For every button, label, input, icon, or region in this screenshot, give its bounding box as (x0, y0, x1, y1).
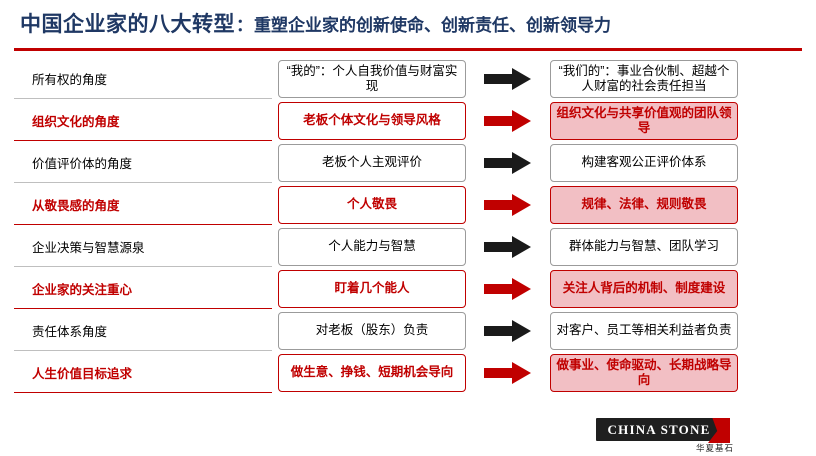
row-label: 企业家的关注重心 (14, 268, 272, 309)
row-from-text: 老板个人主观评价 (278, 144, 466, 182)
row-label: 企业决策与智慧源泉 (14, 226, 272, 267)
arrow-right-red-icon (484, 362, 532, 384)
transformation-matrix: 所有权的角度 “我的”：个人自我价值与财富实现 “我们的”：事业合伙制、超越个人… (14, 58, 802, 393)
arrow-right-black-icon (484, 236, 532, 258)
logo-wordmark: CHINA STONE (608, 422, 711, 438)
row-from-text: 对老板（股东）负责 (278, 312, 466, 350)
arrow-right-icon (472, 100, 544, 141)
row-to-text: 做事业、使命驱动、长期战略导向 (550, 354, 738, 392)
row-label: 价值评价体的角度 (14, 142, 272, 183)
row-to-cell: 做事业、使命驱动、长期战略导向 (544, 352, 744, 393)
page-subtitle: 重塑企业家的创新使命、创新责任、创新领导力 (254, 11, 611, 36)
row-label: 责任体系角度 (14, 310, 272, 351)
row-from-text: 老板个体文化与领导风格 (278, 102, 466, 140)
row-to-text: 对客户、员工等相关利益者负责 (550, 312, 738, 350)
table-row: 所有权的角度 “我的”：个人自我价值与财富实现 “我们的”：事业合伙制、超越个人… (14, 58, 802, 99)
row-from-text: 做生意、挣钱、短期机会导向 (278, 354, 466, 392)
arrow-right-icon (472, 268, 544, 309)
company-logo: CHINA STONE 华夏基石 (596, 418, 756, 452)
arrow-right-red-icon (484, 110, 532, 132)
row-from-cell: 老板个体文化与领导风格 (272, 100, 472, 141)
table-row: 价值评价体的角度 老板个人主观评价 构建客观公正评价体系 (14, 142, 802, 183)
title-row: 中国企业家的八大转型 ： 重塑企业家的创新使命、创新责任、创新领导力 (0, 8, 816, 38)
arrow-right-icon (472, 58, 544, 99)
row-to-cell: “我们的”：事业合伙制、超越个人财富的社会责任担当 (544, 58, 744, 99)
row-to-text: 组织文化与共享价值观的团队领导 (550, 102, 738, 140)
row-from-cell: 老板个人主观评价 (272, 142, 472, 183)
arrow-right-black-icon (484, 320, 532, 342)
table-row: 从敬畏感的角度 个人敬畏 规律、法律、规则敬畏 (14, 184, 802, 225)
row-to-cell: 对客户、员工等相关利益者负责 (544, 310, 744, 351)
row-label: 从敬畏感的角度 (14, 184, 272, 225)
row-to-cell: 关注人背后的机制、制度建设 (544, 268, 744, 309)
table-row: 人生价值目标追求 做生意、挣钱、短期机会导向 做事业、使命驱动、长期战略导向 (14, 352, 802, 393)
logo-subtext: 华夏基石 (696, 442, 734, 454)
row-to-text: 规律、法律、规则敬畏 (550, 186, 738, 224)
row-label: 组织文化的角度 (14, 100, 272, 141)
slide-title-block: 中国企业家的八大转型 ： 重塑企业家的创新使命、创新责任、创新领导力 (0, 8, 816, 52)
row-to-text: “我们的”：事业合伙制、超越个人财富的社会责任担当 (550, 60, 738, 98)
arrow-right-black-icon (484, 152, 532, 174)
row-from-text: 个人敬畏 (278, 186, 466, 224)
row-label: 人生价值目标追求 (14, 352, 272, 393)
row-from-cell: 盯着几个能人 (272, 268, 472, 309)
row-label: 所有权的角度 (14, 58, 272, 99)
row-from-text: 个人能力与智慧 (278, 228, 466, 266)
table-row: 责任体系角度 对老板（股东）负责 对客户、员工等相关利益者负责 (14, 310, 802, 351)
row-from-text: “我的”：个人自我价值与财富实现 (278, 60, 466, 98)
logo-bar: CHINA STONE (596, 418, 722, 441)
row-to-text: 构建客观公正评价体系 (550, 144, 738, 182)
row-from-cell: 做生意、挣钱、短期机会导向 (272, 352, 472, 393)
row-from-text: 盯着几个能人 (278, 270, 466, 308)
arrow-right-red-icon (484, 278, 532, 300)
title-separator: ： (236, 11, 253, 36)
row-to-cell: 规律、法律、规则敬畏 (544, 184, 744, 225)
row-from-cell: 个人能力与智慧 (272, 226, 472, 267)
table-row: 组织文化的角度 老板个体文化与领导风格 组织文化与共享价值观的团队领导 (14, 100, 802, 141)
page-title: 中国企业家的八大转型 (20, 8, 235, 38)
row-from-cell: “我的”：个人自我价值与财富实现 (272, 58, 472, 99)
arrow-right-red-icon (484, 194, 532, 216)
table-row: 企业家的关注重心 盯着几个能人 关注人背后的机制、制度建设 (14, 268, 802, 309)
row-to-text: 关注人背后的机制、制度建设 (550, 270, 738, 308)
row-to-text: 群体能力与智慧、团队学习 (550, 228, 738, 266)
row-to-cell: 组织文化与共享价值观的团队领导 (544, 100, 744, 141)
arrow-right-black-icon (484, 68, 532, 90)
arrow-right-icon (472, 352, 544, 393)
title-underline (14, 48, 802, 51)
row-from-cell: 个人敬畏 (272, 184, 472, 225)
arrow-right-icon (472, 184, 544, 225)
slide-root: 中国企业家的八大转型 ： 重塑企业家的创新使命、创新责任、创新领导力 所有权的角… (0, 0, 816, 456)
arrow-right-icon (472, 142, 544, 183)
arrow-right-icon (472, 310, 544, 351)
row-to-cell: 群体能力与智慧、团队学习 (544, 226, 744, 267)
row-from-cell: 对老板（股东）负责 (272, 310, 472, 351)
table-row: 企业决策与智慧源泉 个人能力与智慧 群体能力与智慧、团队学习 (14, 226, 802, 267)
row-to-cell: 构建客观公正评价体系 (544, 142, 744, 183)
arrow-right-icon (472, 226, 544, 267)
